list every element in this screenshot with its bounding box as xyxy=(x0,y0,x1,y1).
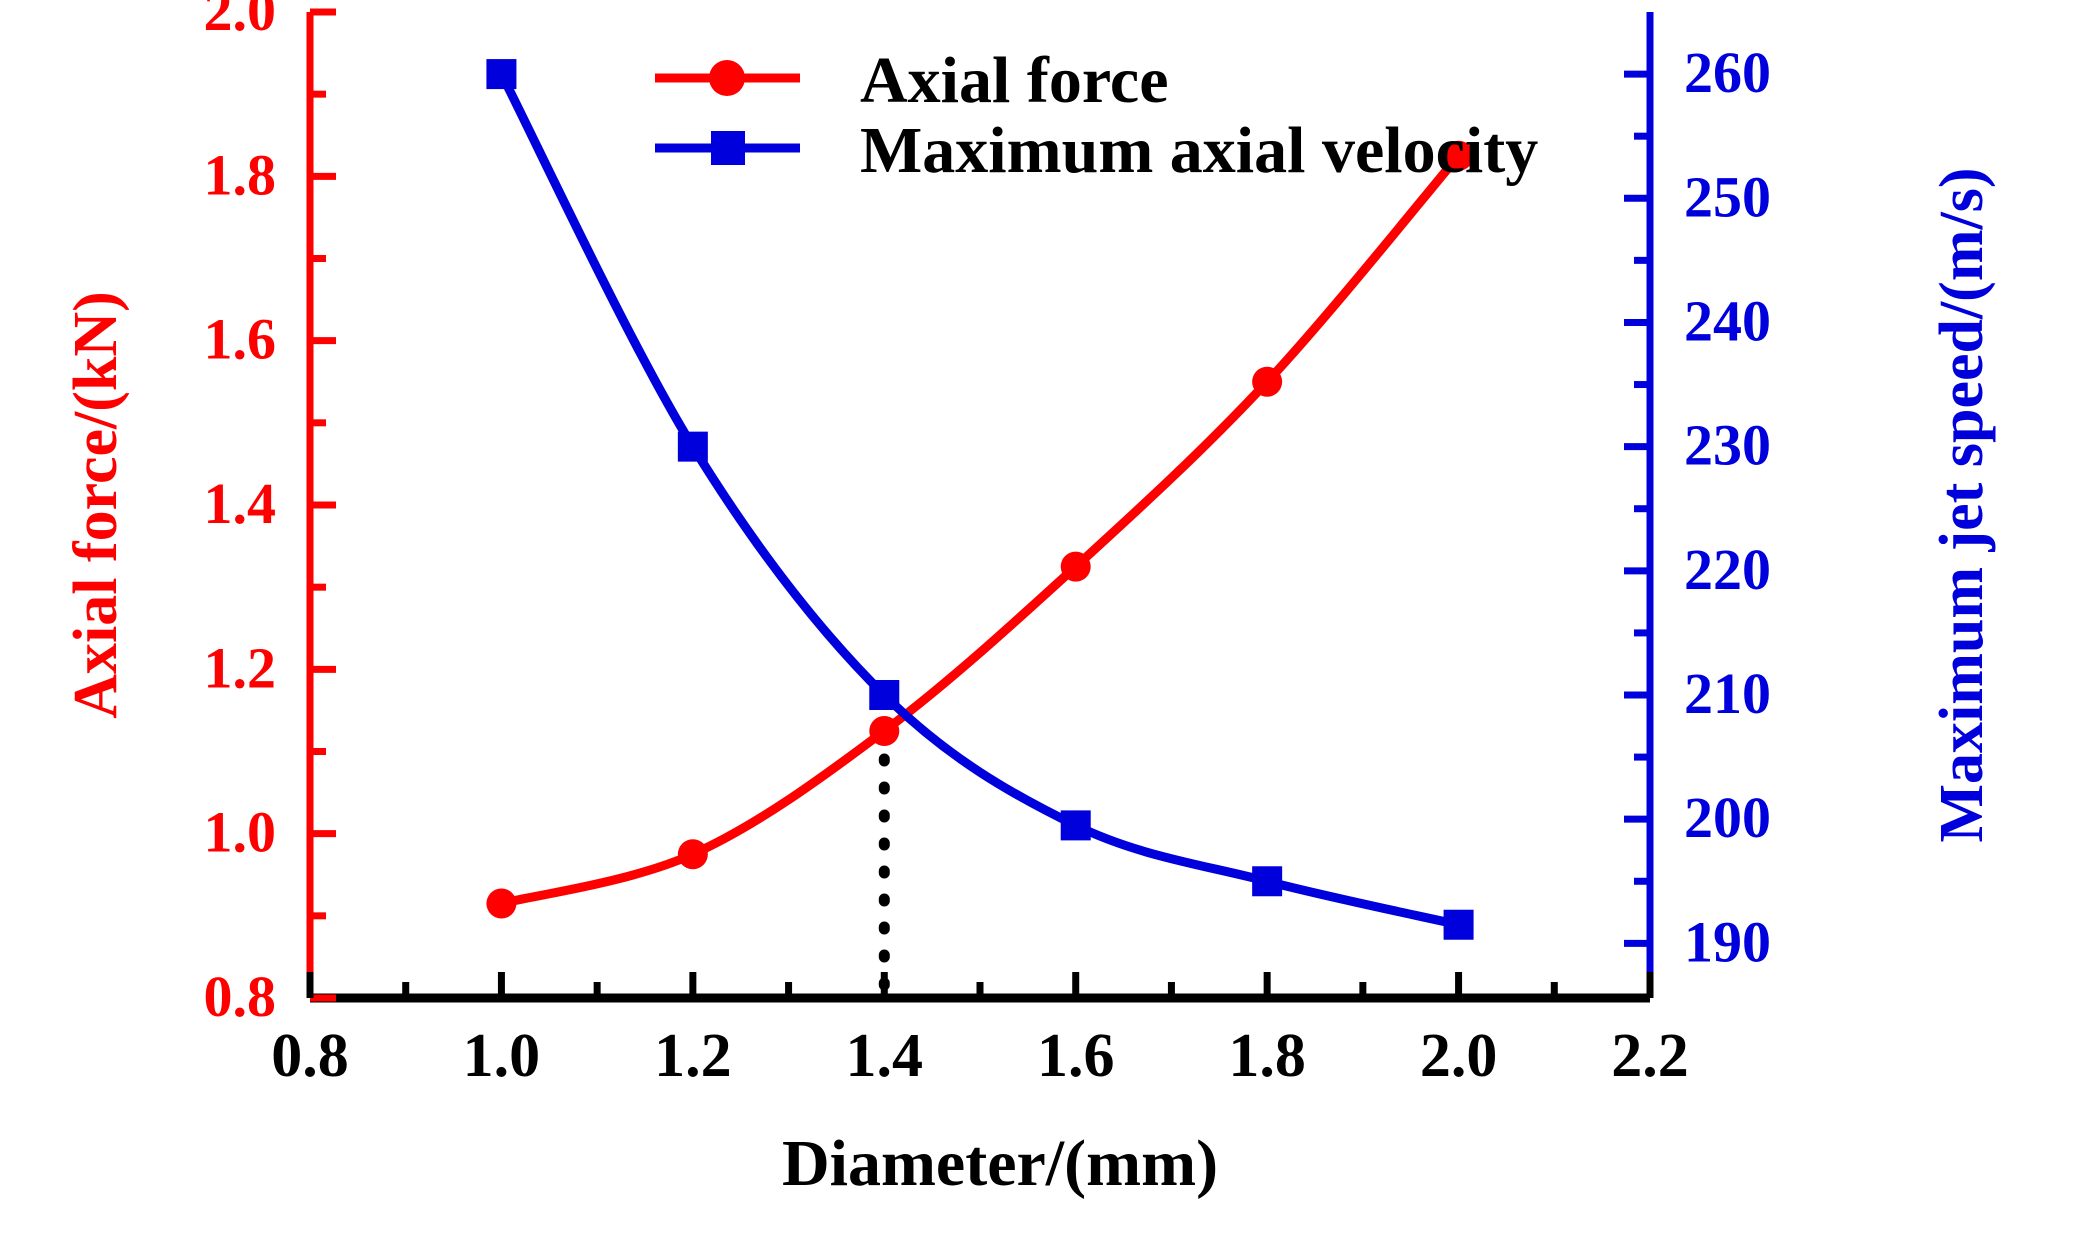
axial-force-line xyxy=(501,156,1458,904)
right-axis-title: Maximum jet speed/(m/s) xyxy=(1928,168,1996,843)
axial-force-data-point[interactable] xyxy=(678,839,708,869)
legend-label-axial-force: Axial force xyxy=(860,44,1169,117)
legend-label-max-axial-velocity: Maximum axial velocity xyxy=(860,114,1538,187)
right-axis-tick-label: 190 xyxy=(1684,909,1771,974)
max-axial-velocity-line xyxy=(501,74,1458,925)
axial-force-data-point[interactable] xyxy=(869,716,899,746)
x-axis-tick-label: 1.6 xyxy=(1037,1022,1115,1090)
x-axis-tick-label: 1.0 xyxy=(463,1022,541,1090)
axial-force-data-point[interactable] xyxy=(1252,367,1282,397)
right-axis-tick-label: 230 xyxy=(1684,413,1771,478)
right-axis-tick-label: 240 xyxy=(1684,288,1771,353)
max-axial-velocity-data-point[interactable] xyxy=(678,432,708,462)
x-axis-tick-label: 0.8 xyxy=(271,1022,349,1090)
max-axial-velocity-data-point[interactable] xyxy=(1444,910,1474,940)
axial-force-data-point[interactable] xyxy=(1061,552,1091,582)
left-axis-tick-label: 0.8 xyxy=(204,964,277,1029)
left-axis-tick-label: 1.6 xyxy=(204,307,277,372)
left-axis-tick-label: 1.2 xyxy=(204,635,277,700)
right-axis-tick-label: 260 xyxy=(1684,40,1771,105)
max-axial-velocity-data-point[interactable] xyxy=(486,59,516,89)
x-axis-tick-label: 1.8 xyxy=(1228,1022,1306,1090)
right-axis-tick-label: 210 xyxy=(1684,661,1771,726)
dual-axis-line-chart: 0.81.01.21.41.61.82.01902002102202302402… xyxy=(0,0,2098,1235)
left-axis-tick-label: 1.4 xyxy=(204,471,277,536)
max-axial-velocity-data-point[interactable] xyxy=(869,680,899,710)
x-axis-tick-label: 1.4 xyxy=(846,1022,924,1090)
left-axis-title: Axial force/(kN) xyxy=(62,291,130,719)
legend-marker-axial-force xyxy=(709,60,745,96)
right-axis-tick-label: 250 xyxy=(1684,164,1771,229)
left-axis-tick-label: 2.0 xyxy=(204,0,277,43)
x-axis-title: Diameter/(mm) xyxy=(782,1127,1218,1200)
x-axis-tick-label: 2.2 xyxy=(1611,1022,1689,1090)
x-axis-tick-label: 1.2 xyxy=(654,1022,732,1090)
max-axial-velocity-data-point[interactable] xyxy=(1061,810,1091,840)
axial-force-data-point[interactable] xyxy=(486,889,516,919)
right-axis-tick-label: 200 xyxy=(1684,785,1771,850)
chart-figure: 0.81.01.21.41.61.82.01902002102202302402… xyxy=(0,0,2098,1235)
right-axis-tick-label: 220 xyxy=(1684,537,1771,602)
left-axis-tick-label: 1.8 xyxy=(204,142,277,207)
max-axial-velocity-data-point[interactable] xyxy=(1252,866,1282,896)
left-axis-tick-label: 1.0 xyxy=(204,800,277,865)
legend-marker-max-axial-velocity xyxy=(711,131,745,165)
x-axis-tick-label: 2.0 xyxy=(1420,1022,1498,1090)
